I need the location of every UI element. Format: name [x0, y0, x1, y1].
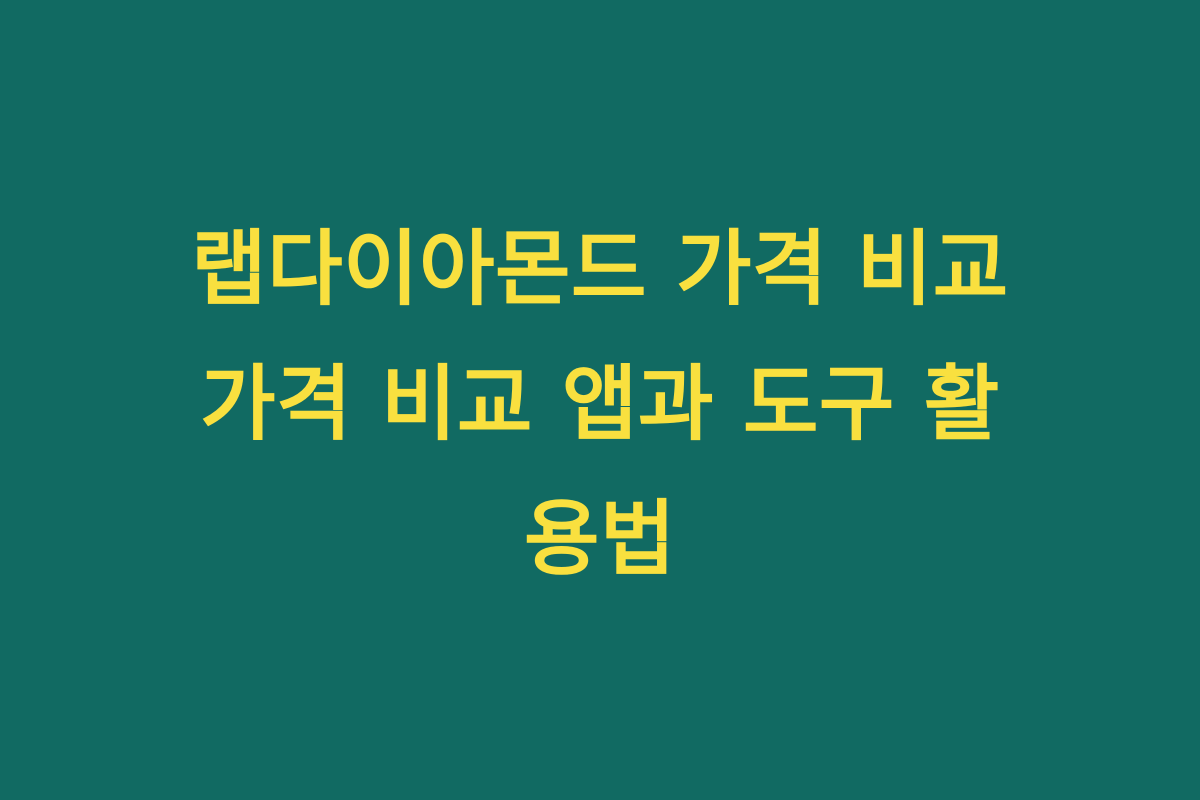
page-title-line-3: 용법	[95, 472, 1105, 607]
page-title: 랩다이아몬드 가격 비교 가격 비교 앱과 도구 활 용법	[95, 202, 1105, 607]
page-title-line-2: 가격 비교 앱과 도구 활	[95, 337, 1105, 472]
page-title-line-1: 랩다이아몬드 가격 비교	[95, 202, 1105, 337]
thumbnail-card: 랩다이아몬드 가격 비교 가격 비교 앱과 도구 활 용법	[0, 0, 1200, 800]
